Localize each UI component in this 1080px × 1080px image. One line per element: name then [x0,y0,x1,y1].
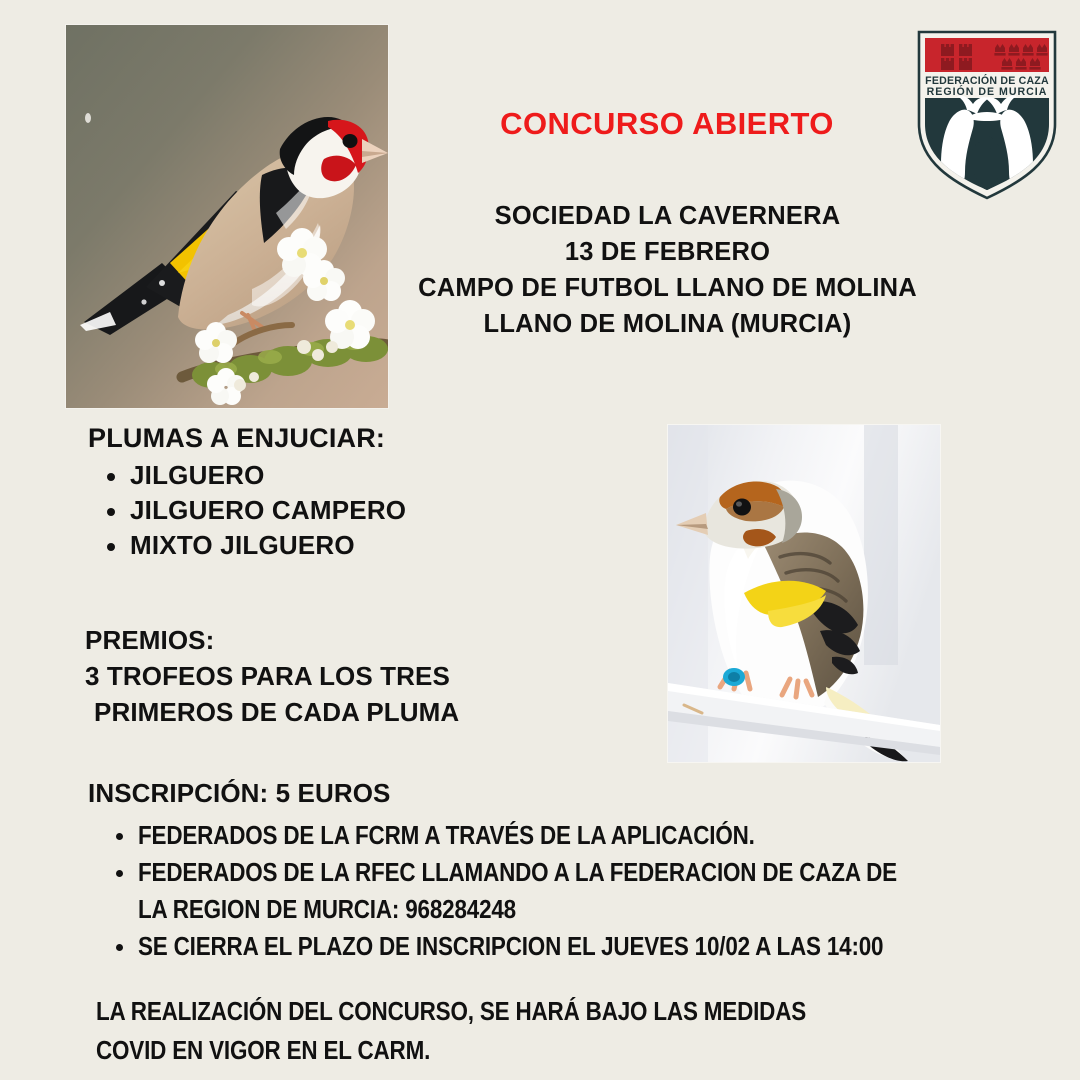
inscripcion-list: FEDERADOS DE LA FCRM A TRAVÉS DE LA APLI… [110,818,1015,966]
venue-line-place: CAMPO DE FUTBOL LLANO DE MOLINA [400,270,935,306]
venue-info: SOCIEDAD LA CAVERNERA 13 DE FEBRERO CAMP… [400,198,935,342]
list-item: JILGUERO CAMPERO [130,493,568,528]
premios-line-1: 3 TROFEOS PARA LOS TRES [85,658,605,694]
list-item: FEDERADOS DE LA RFEC LLAMANDO A LA FEDER… [138,855,1015,929]
covid-line-1: LA REALIZACIÓN DEL CONCURSO, SE HARÁ BAJ… [96,993,1016,1032]
page-title: CONCURSO ABIERTO [432,106,902,142]
inscripcion-section: FEDERADOS DE LA FCRM A TRAVÉS DE LA APLI… [110,818,1015,966]
inscripcion-item-1: FEDERADOS DE LA FCRM A TRAVÉS DE LA APLI… [138,818,755,855]
inscripcion-heading: INSCRIPCIÓN: 5 EUROS [88,778,391,809]
premios-heading: PREMIOS: [85,622,605,658]
federacion-de-caza-logo: FEDERACIÓN DE CAZA REGIÓN DE MURCIA [903,22,1071,200]
covid-line-2: COVID EN VIGOR EN EL CARM. [96,1032,1016,1071]
logo-line2: REGIÓN DE MURCIA [927,85,1048,98]
list-item: FEDERADOS DE LA FCRM A TRAVÉS DE LA APLI… [138,818,1015,855]
inscripcion-item-3: SE CIERRA EL PLAZO DE INSCRIPCION EL JUE… [138,929,883,966]
list-item: MIXTO JILGUERO [130,528,568,563]
covid-notice: LA REALIZACIÓN DEL CONCURSO, SE HARÁ BAJ… [96,993,1016,1071]
poster-canvas: FEDERACIÓN DE CAZA REGIÓN DE MURCIA CONC… [0,0,1080,1080]
list-item: SE CIERRA EL PLAZO DE INSCRIPCION EL JUE… [138,929,1015,966]
premios-section: PREMIOS: 3 TROFEOS PARA LOS TRES PRIMERO… [85,622,605,730]
venue-line-society: SOCIEDAD LA CAVERNERA [400,198,935,234]
plumas-list: JILGUERO JILGUERO CAMPERO MIXTO JILGUERO [88,458,568,563]
list-item: JILGUERO [130,458,568,493]
plumas-section: PLUMAS A ENJUCIAR: JILGUERO JILGUERO CAM… [88,420,568,563]
venue-line-city: LLANO DE MOLINA (MURCIA) [400,306,935,342]
premios-line-2: PRIMEROS DE CADA PLUMA [85,694,605,730]
plumas-heading: PLUMAS A ENJUCIAR: [88,420,568,456]
venue-line-date: 13 DE FEBRERO [400,234,935,270]
inscripcion-item-2: FEDERADOS DE LA RFEC LLAMANDO A LA FEDER… [138,855,910,929]
mixto-goldfinch-photo [668,425,940,762]
goldfinch-photo [66,25,388,408]
